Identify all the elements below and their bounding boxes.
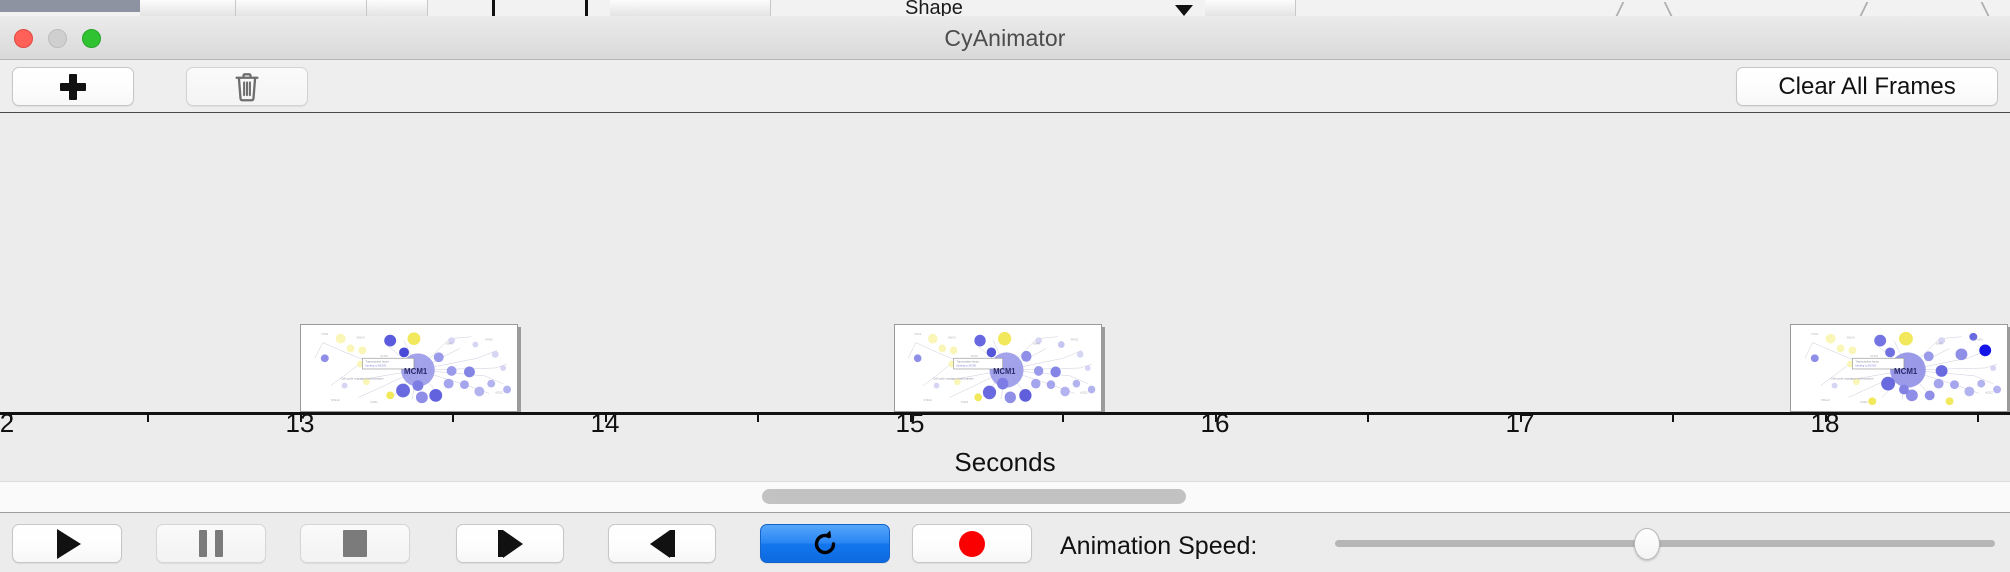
record-button[interactable]: [912, 524, 1032, 563]
svg-text:YOX1: YOX1: [1811, 332, 1819, 336]
timeline-frame-thumbnail[interactable]: YOX1SW14 CLN3SWI5 FKH2ACE2 STE12FAR1 Tra…: [894, 324, 1102, 412]
pause-icon: [199, 530, 223, 557]
window-titlebar[interactable]: CyAnimator: [0, 16, 2010, 60]
svg-text:YOX1: YOX1: [321, 332, 329, 336]
axis-tick-label: 18: [1811, 408, 1840, 439]
svg-text:Cell cycle regulated transcrip: Cell cycle regulated transcription: [341, 377, 384, 381]
svg-text:CLN3: CLN3: [1870, 354, 1878, 358]
slider-track: [1335, 540, 1995, 547]
svg-text:SW14: SW14: [948, 336, 956, 340]
svg-text:FKH2: FKH2: [1975, 338, 1983, 342]
network-graph-thumbnail: YOX1SW14 CLN3SWI5 FKH2ACE2 STE12FAR1 Tra…: [895, 325, 1101, 411]
svg-text:binding to MCM1: binding to MCM1: [1855, 364, 1876, 368]
timeline-panel[interactable]: YOX1SW14 CLN3SWI5 FKH2ACE2 STE12FAR1 Tra…: [0, 113, 2010, 422]
background-segment: [236, 0, 367, 16]
svg-text:YOX1: YOX1: [914, 332, 922, 336]
svg-text:CLN3: CLN3: [380, 354, 388, 358]
svg-text:ACE2: ACE2: [495, 390, 503, 394]
first-frame-button[interactable]: [456, 524, 564, 563]
background-segment: [140, 0, 236, 16]
svg-text:Cell cycle regulated transcrip: Cell cycle regulated transcription: [933, 377, 974, 381]
axis-tick-label: 17: [1506, 408, 1535, 439]
svg-text:Cell cycle regulated transcrip: Cell cycle regulated transcription: [1831, 377, 1874, 381]
pause-button[interactable]: [156, 524, 266, 563]
axis-tick-label: 2: [0, 408, 14, 439]
svg-text:SWI5: SWI5: [1936, 342, 1944, 346]
skip-to-start-icon: [498, 530, 523, 558]
plus-icon: [60, 74, 86, 100]
svg-text:SWI5: SWI5: [446, 342, 454, 346]
loop-button[interactable]: [760, 524, 890, 563]
trash-icon: [233, 72, 261, 102]
background-segment: [1205, 0, 1296, 16]
animation-speed-slider[interactable]: [1335, 525, 1995, 563]
svg-text:SW14: SW14: [356, 336, 364, 340]
background-window-strip: Shape: [0, 0, 2010, 17]
loop-icon: [810, 529, 840, 559]
svg-text:FAR1: FAR1: [370, 400, 378, 404]
background-wedge: [1175, 5, 1193, 16]
background-tick: [492, 0, 495, 16]
svg-text:binding to MCM1: binding to MCM1: [956, 363, 976, 367]
add-frame-button[interactable]: [12, 67, 134, 106]
background-segment: [610, 0, 771, 16]
svg-text:ACE2: ACE2: [1080, 390, 1088, 394]
network-graph-thumbnail: YOX1SW14 CLN3SWI5 FKH2ACE2 STE12FAR1 Tra…: [1791, 325, 2007, 411]
svg-text:MCM1: MCM1: [1894, 367, 1918, 376]
svg-text:MCM1: MCM1: [993, 367, 1016, 376]
background-diagonal: [1981, 2, 2010, 17]
skip-to-end-icon: [650, 530, 675, 558]
clear-all-frames-button[interactable]: Clear All Frames: [1736, 67, 1998, 106]
timeline-frame-thumbnail[interactable]: YOX1SW14 CLN3SWI5 FKH2ACE2 STE12FAR1 Tra…: [1790, 324, 2008, 412]
svg-text:Transcription factor: Transcription factor: [956, 360, 979, 364]
svg-text:CLN3: CLN3: [971, 354, 979, 358]
svg-text:MCM1: MCM1: [404, 367, 428, 376]
axis-title: Seconds: [0, 447, 2010, 478]
window-title: CyAnimator: [0, 25, 2010, 52]
axis-tick-label: 15: [896, 408, 925, 439]
network-graph-thumbnail: YOX1SW14 CLN3SWI5 FKH2ACE2 STE12FAR1 Tra…: [301, 325, 517, 411]
slider-thumb[interactable]: [1634, 528, 1660, 560]
svg-text:STE12: STE12: [1821, 398, 1830, 402]
scrollbar-thumb[interactable]: [762, 489, 1186, 504]
svg-text:SW14: SW14: [1846, 336, 1854, 340]
background-diagonal: [1858, 2, 1895, 17]
transport-controls: Animation Speed:: [0, 513, 2010, 572]
frame-toolbar: Clear All Frames: [0, 60, 2010, 113]
axis-label-band: 2 13 14 15 16 17 18 Seconds: [0, 420, 2010, 472]
animation-speed-label: Animation Speed:: [1060, 532, 1257, 561]
svg-text:STE12: STE12: [923, 398, 932, 402]
cyanimator-window: CyAnimator Clear All Frames: [0, 16, 2010, 510]
play-button[interactable]: [12, 524, 122, 563]
timeline-horizontal-scrollbar[interactable]: [0, 481, 2010, 514]
svg-text:Transcription factor: Transcription factor: [365, 360, 389, 364]
background-app-label: Shape: [905, 0, 963, 17]
stop-button[interactable]: [300, 524, 410, 563]
background-diagonal: [1614, 2, 1651, 17]
record-icon: [959, 531, 985, 557]
svg-text:FAR1: FAR1: [1860, 400, 1868, 404]
axis-tick-label: 16: [1201, 408, 1230, 439]
background-segment: [367, 0, 428, 16]
axis-tick-label: 13: [286, 408, 315, 439]
svg-text:STE12: STE12: [331, 398, 340, 402]
background-diagonal: [1664, 2, 1701, 17]
background-titlebar-dark: [0, 0, 140, 12]
timeline-frame-thumbnail[interactable]: YOX1SW14 CLN3SWI5 FKH2ACE2 STE12FAR1 Tra…: [300, 324, 518, 412]
svg-text:ACE2: ACE2: [1985, 390, 1993, 394]
svg-text:FKH2: FKH2: [1071, 338, 1079, 342]
delete-frame-button[interactable]: [186, 67, 308, 106]
svg-text:Transcription factor: Transcription factor: [1855, 360, 1879, 364]
play-icon: [57, 529, 81, 559]
svg-text:FKH2: FKH2: [485, 338, 493, 342]
svg-text:SWI5: SWI5: [1033, 341, 1040, 345]
svg-text:FAR1: FAR1: [961, 400, 968, 404]
background-tick: [585, 0, 588, 16]
svg-text:binding to MCM1: binding to MCM1: [365, 364, 386, 368]
last-frame-button[interactable]: [608, 524, 716, 563]
stop-icon: [343, 530, 367, 557]
axis-tick-label: 14: [591, 408, 620, 439]
